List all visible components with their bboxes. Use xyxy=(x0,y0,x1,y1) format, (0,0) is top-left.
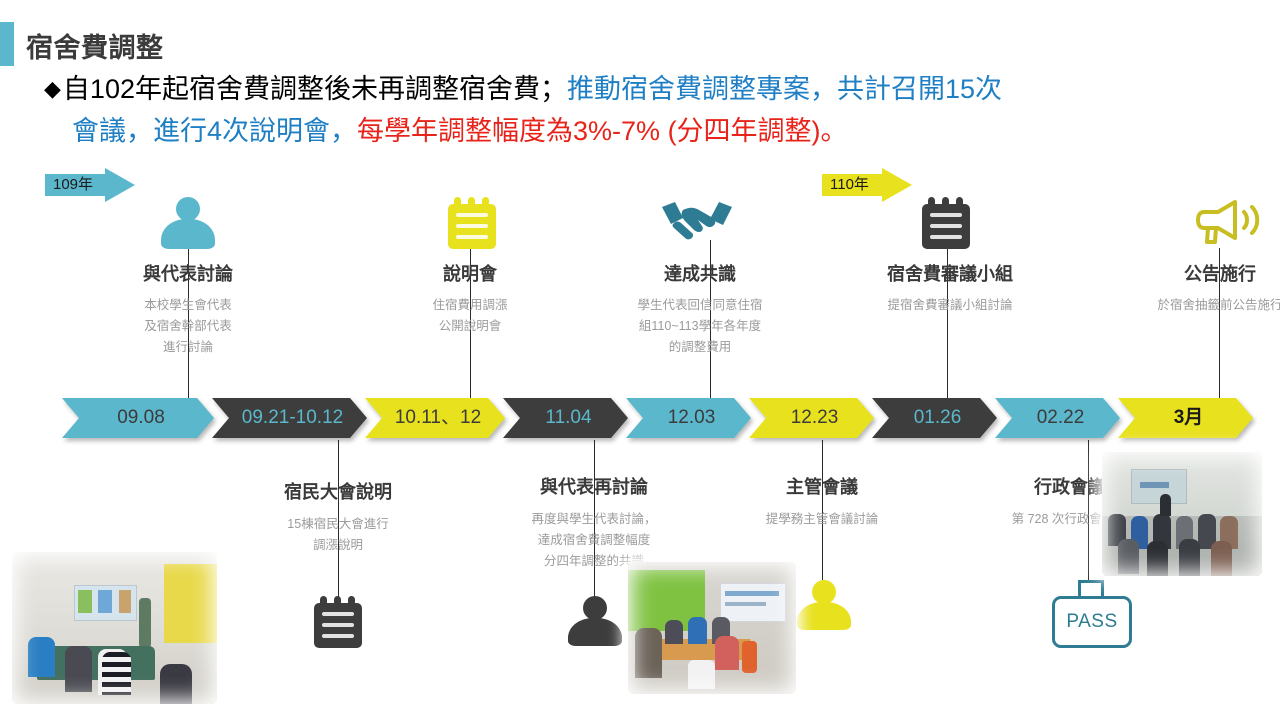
year-banner-label: 109年 xyxy=(53,174,93,196)
timeline-chevron-5[interactable]: 12.23 xyxy=(749,398,874,438)
year-banner-arrowhead xyxy=(105,168,135,202)
pass-badge-icon: PASS xyxy=(1052,596,1132,648)
milestone-above-0: 與代表討論 本校學生會代表 及宿舍幹部代表 進行討論 xyxy=(58,260,318,358)
notepad-icon xyxy=(314,596,362,648)
timeline-chevron-4[interactable]: 12.03 xyxy=(626,398,751,438)
milestone-below-1: 與代表再討論 再度與學生代表討論， 達成宿舍費調整幅度 分四年調整的共識 xyxy=(464,473,724,572)
bullet-line1-black: 自102年起宿舍費調整後未再調整宿舍費； xyxy=(63,74,567,104)
bullet-summary: ◆自102年起宿舍費調整後未再調整宿舍費；推動宿舍費調整專案，共計召開15次 會… xyxy=(44,68,1259,152)
title-accent-bar xyxy=(0,22,14,66)
milestone-desc: 提學務主管會議討論 xyxy=(692,509,952,530)
milestone-above-1: 說明會 住宿費用調漲 公開說明會 xyxy=(340,260,600,337)
bullet-marker-icon: ◆ xyxy=(44,76,61,101)
chevron-date-label: 02.22 xyxy=(1031,407,1085,428)
timeline-chevron-1[interactable]: 09.21-10.12 xyxy=(212,398,367,438)
milestone-title: 與代表討論 xyxy=(58,260,318,286)
chevron-date-label: 10.11、12 xyxy=(389,407,481,428)
year-banner-109: 109年 xyxy=(45,168,135,202)
timeline-chevron-8[interactable]: 3月 xyxy=(1118,398,1253,438)
milestone-desc: 15棟宿民大會進行 調漲說明 xyxy=(208,514,468,556)
person-icon xyxy=(158,197,218,249)
milestone-desc: 住宿費用調漲 公開說明會 xyxy=(340,295,600,337)
page-title: 宿舍費調整 xyxy=(26,26,164,65)
milestone-below-2: 主管會議 提學務主管會議討論 xyxy=(692,473,952,530)
year-banner-label: 110年 xyxy=(830,174,869,196)
timeline-chevron-0[interactable]: 09.08 xyxy=(62,398,214,438)
managers-meeting-photo xyxy=(628,562,796,694)
notepad-icon xyxy=(922,197,970,249)
milestone-desc: 本校學生會代表 及宿舍幹部代表 進行討論 xyxy=(58,295,318,358)
milestone-title: 說明會 xyxy=(340,260,600,286)
handshake-icon xyxy=(658,198,736,242)
milestone-title: 主管會議 xyxy=(692,473,952,499)
year-banner-110: 110年 xyxy=(822,168,914,202)
bullet-line2-red: 每學年調整幅度為3%-7% (分四年調整)。 xyxy=(357,116,848,146)
milestone-desc: 於宿舍抽籤前公告施行 xyxy=(1060,295,1280,316)
chevron-date-label: 12.23 xyxy=(785,407,839,428)
dorm-meeting-photo xyxy=(12,552,217,704)
chevron-date-label: 12.03 xyxy=(662,407,716,428)
assembly-photo xyxy=(1102,452,1262,576)
notepad-icon xyxy=(448,197,496,249)
chevron-date-label: 3月 xyxy=(1168,407,1204,428)
milestone-title: 宿民大會說明 xyxy=(208,478,468,504)
bullet-line2-blue: 會議，進行4次說明會， xyxy=(72,116,357,146)
year-banner-arrowhead xyxy=(882,168,912,202)
timeline-chevron-3[interactable]: 11.04 xyxy=(503,398,628,438)
timeline-chevron-band: 09.08 09.21-10.12 10.11、12 11.04 12.03 1… xyxy=(0,398,1280,442)
chevron-date-label: 09.21-10.12 xyxy=(236,407,343,428)
person-icon xyxy=(566,596,624,646)
chevron-date-label: 09.08 xyxy=(111,407,165,428)
megaphone-icon xyxy=(1194,198,1262,246)
milestone-title: 公告施行 xyxy=(1060,260,1280,286)
chevron-date-label: 01.26 xyxy=(908,407,962,428)
person-icon xyxy=(795,580,853,630)
milestone-title: 與代表再討論 xyxy=(464,473,724,499)
timeline-chevron-7[interactable]: 02.22 xyxy=(995,398,1120,438)
timeline-chevron-6[interactable]: 01.26 xyxy=(872,398,997,438)
milestone-above-4: 公告施行 於宿舍抽籤前公告施行 xyxy=(1060,260,1280,316)
bullet-line1-blue: 推動宿舍費調整專案，共計召開15次 xyxy=(567,74,1002,104)
milestone-below-0: 宿民大會說明 15棟宿民大會進行 調漲說明 xyxy=(208,478,468,556)
chevron-date-label: 11.04 xyxy=(539,407,591,428)
timeline-chevron-2[interactable]: 10.11、12 xyxy=(365,398,505,438)
